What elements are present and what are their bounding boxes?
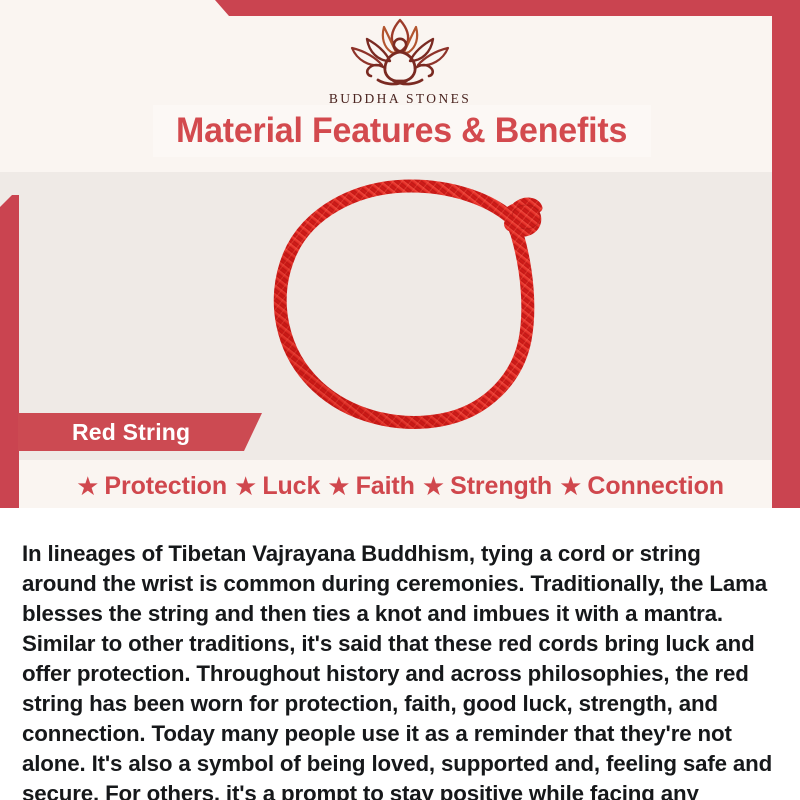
star-icon: ★ bbox=[559, 473, 582, 499]
description-paragraph: In lineages of Tibetan Vajrayana Buddhis… bbox=[22, 539, 774, 800]
product-name-banner: Red String bbox=[18, 413, 262, 451]
product-infographic: BUDDHA STONES Material Features & Benefi… bbox=[0, 0, 800, 800]
feature-item-faith: ★ Faith bbox=[327, 472, 415, 501]
feature-label: Protection bbox=[104, 472, 227, 501]
star-icon: ★ bbox=[76, 473, 99, 499]
feature-list: ★ Protection ★ Luck ★ Faith ★ Strength ★… bbox=[0, 466, 800, 506]
brand-logo: BUDDHA STONES bbox=[0, 14, 800, 107]
description-block: In lineages of Tibetan Vajrayana Buddhis… bbox=[0, 508, 800, 800]
star-icon: ★ bbox=[234, 473, 257, 499]
feature-label: Luck bbox=[262, 472, 320, 501]
feature-item-connection: ★ Connection bbox=[559, 472, 724, 501]
red-braided-cord-bracelet bbox=[245, 172, 575, 447]
star-icon: ★ bbox=[327, 473, 350, 499]
product-name: Red String bbox=[72, 419, 190, 446]
feature-label: Strength bbox=[450, 472, 552, 501]
feature-item-strength: ★ Strength bbox=[422, 472, 552, 501]
feature-item-luck: ★ Luck bbox=[234, 472, 320, 501]
feature-label: Faith bbox=[356, 472, 415, 501]
feature-label: Connection bbox=[587, 472, 724, 501]
lotus-meditation-icon bbox=[336, 14, 464, 88]
page-title: Material Features & Benefits bbox=[176, 111, 627, 151]
star-icon: ★ bbox=[422, 473, 445, 499]
feature-item-protection: ★ Protection bbox=[76, 472, 227, 501]
title-banner: Material Features & Benefits bbox=[153, 105, 651, 157]
